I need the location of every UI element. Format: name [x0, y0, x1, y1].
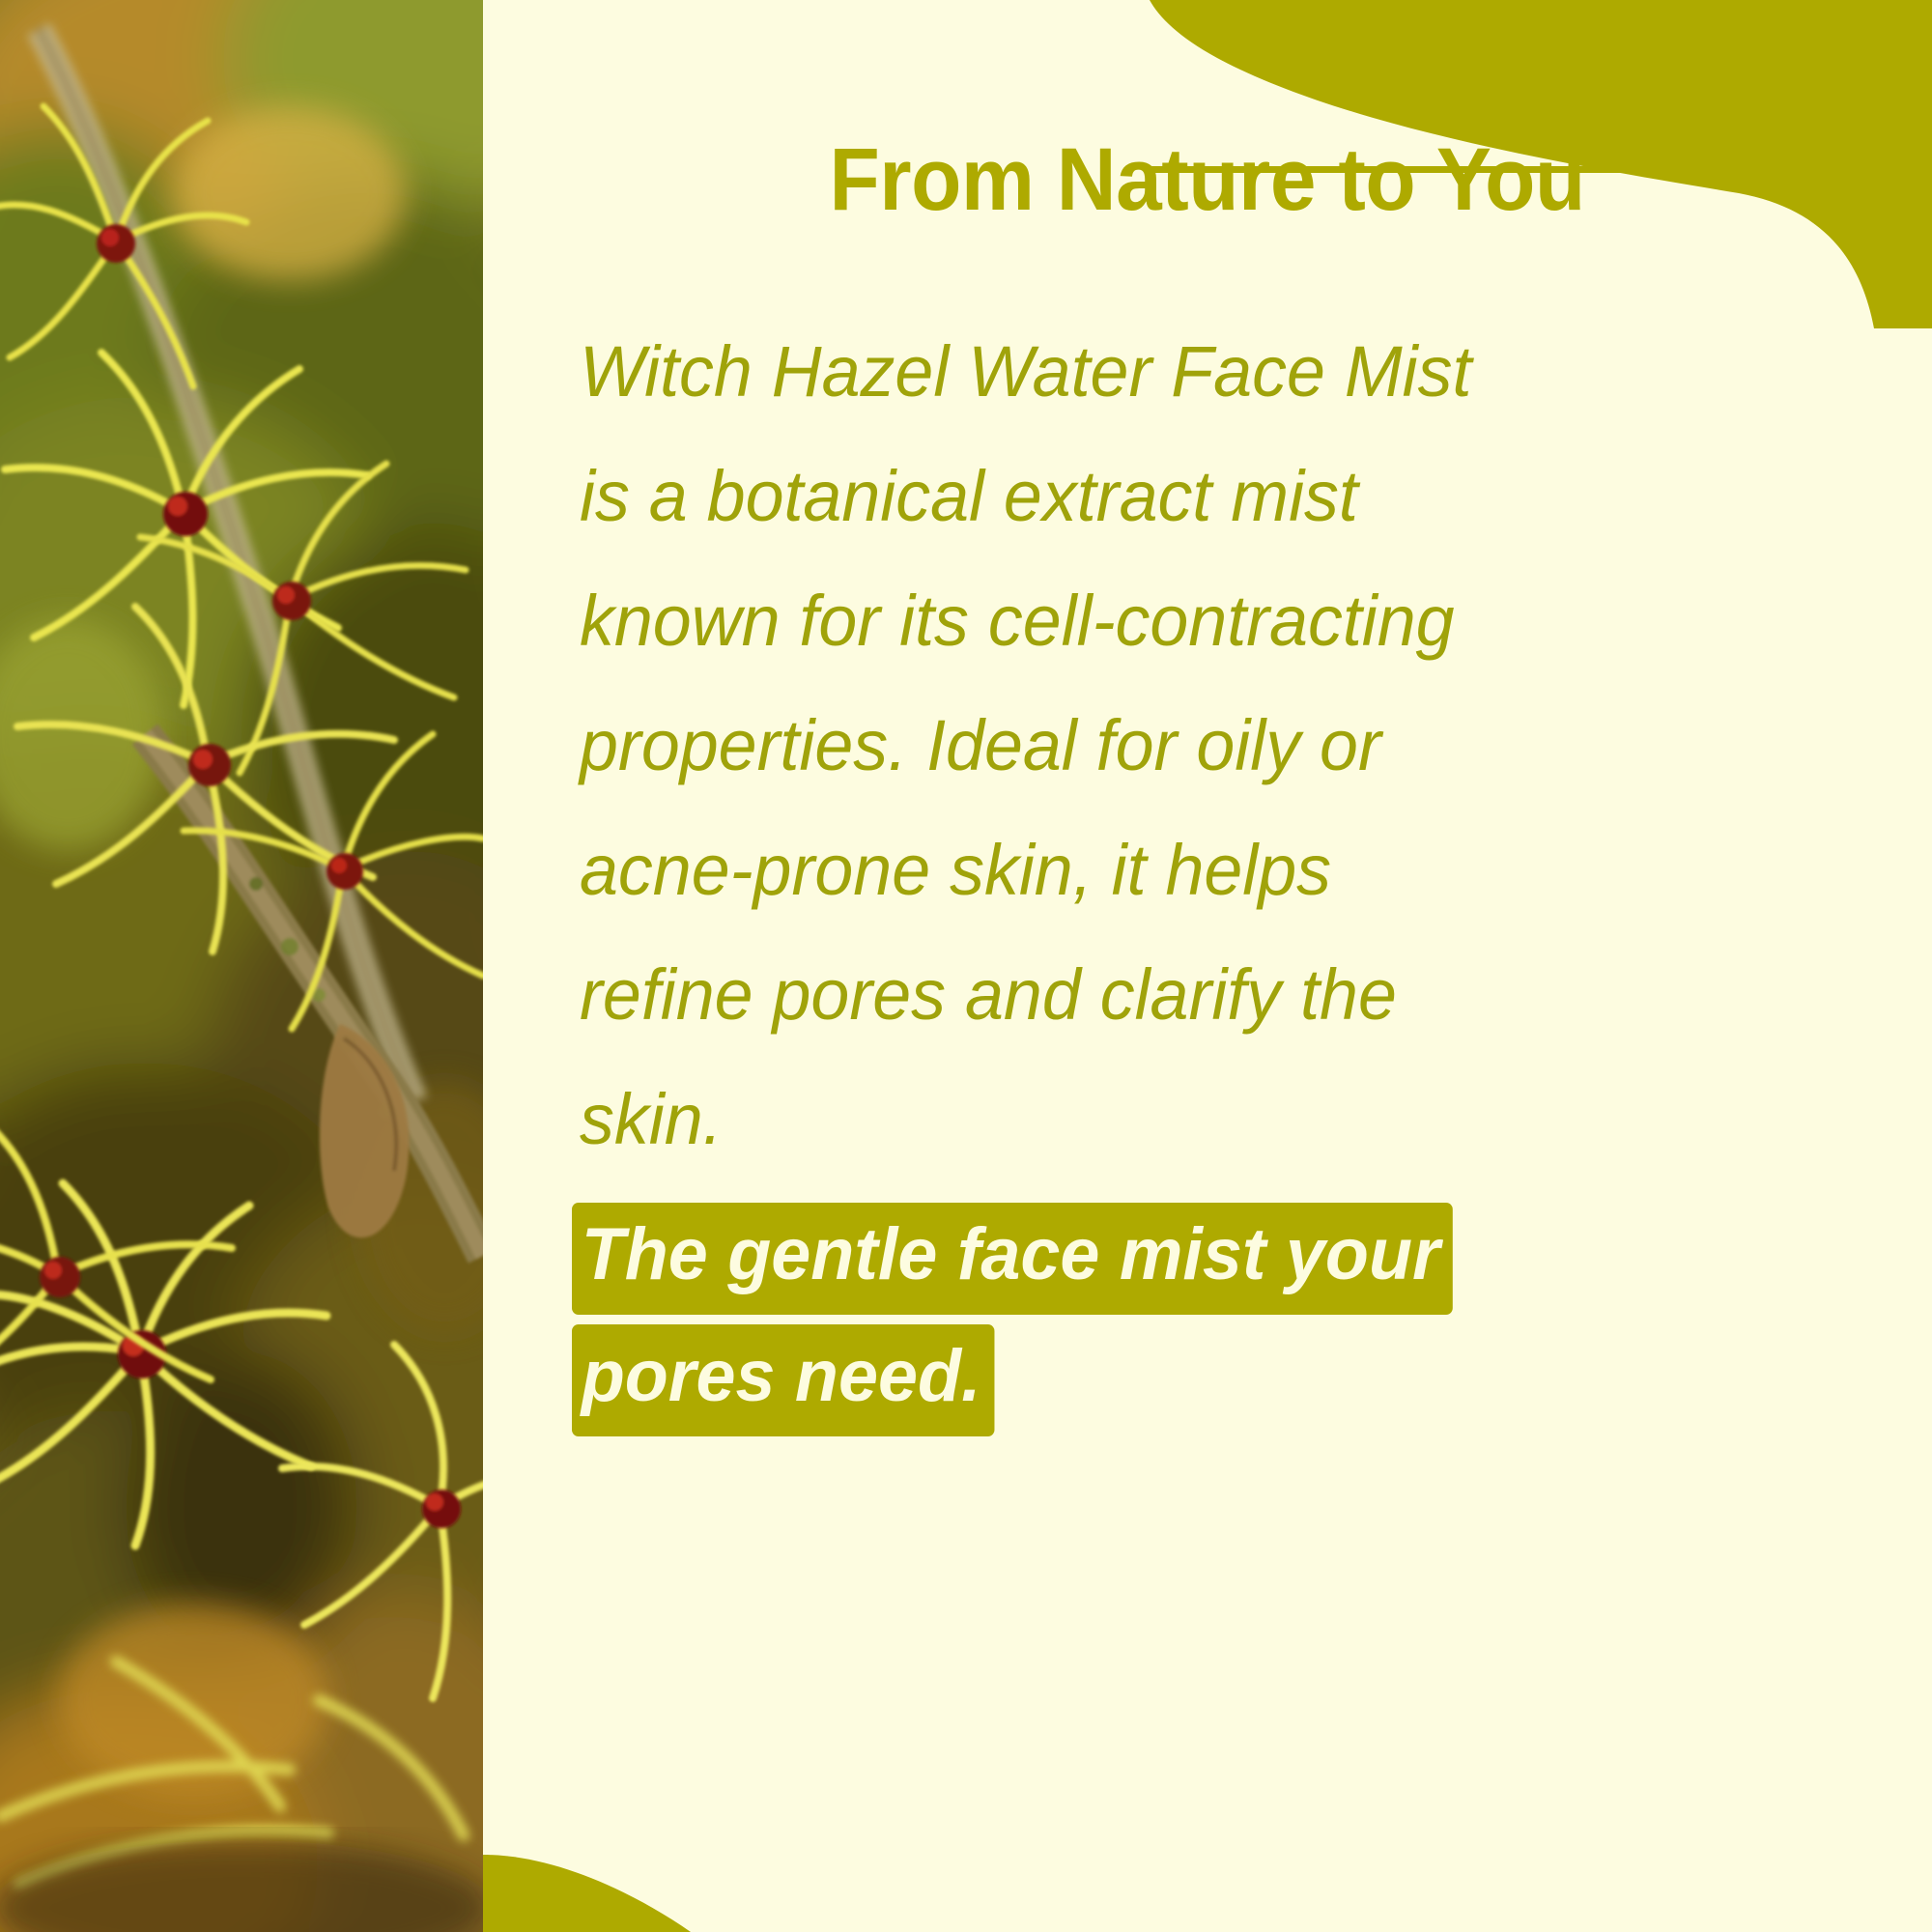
body-line: properties. Ideal for oily or	[580, 683, 1891, 808]
body-line: is a botanical extract mist	[580, 434, 1891, 558]
title-underline-rule	[1150, 166, 1932, 173]
witch-hazel-flower-photo	[0, 0, 483, 1932]
page-title: From Nature to You	[830, 135, 1585, 224]
poster-canvas: From Nature to You Witch Hazel Water Fac…	[0, 0, 1932, 1932]
tagline-line: pores need.	[572, 1324, 994, 1436]
bottom-olive-decoration-shape	[483, 1797, 1932, 1932]
body-line: refine pores and clarify the	[580, 932, 1891, 1057]
body-line: known for its cell-contracting	[580, 558, 1891, 683]
body-line: skin.	[580, 1057, 1891, 1181]
body-copy: Witch Hazel Water Face Mist is a botanic…	[580, 309, 1932, 1181]
tagline-row: The gentle face mist your	[572, 1203, 1924, 1315]
tagline-highlight-block: The gentle face mist your pores need.	[572, 1203, 1924, 1436]
content-panel: From Nature to You Witch Hazel Water Fac…	[483, 0, 1932, 1932]
photo-illustration	[0, 0, 483, 1932]
body-line: Witch Hazel Water Face Mist	[580, 309, 1891, 434]
body-line: acne-prone skin, it helps	[580, 808, 1891, 932]
tagline-row: pores need.	[572, 1324, 1924, 1436]
page-title-container: From Nature to You	[483, 135, 1932, 224]
tagline-line: The gentle face mist your	[572, 1203, 1453, 1315]
